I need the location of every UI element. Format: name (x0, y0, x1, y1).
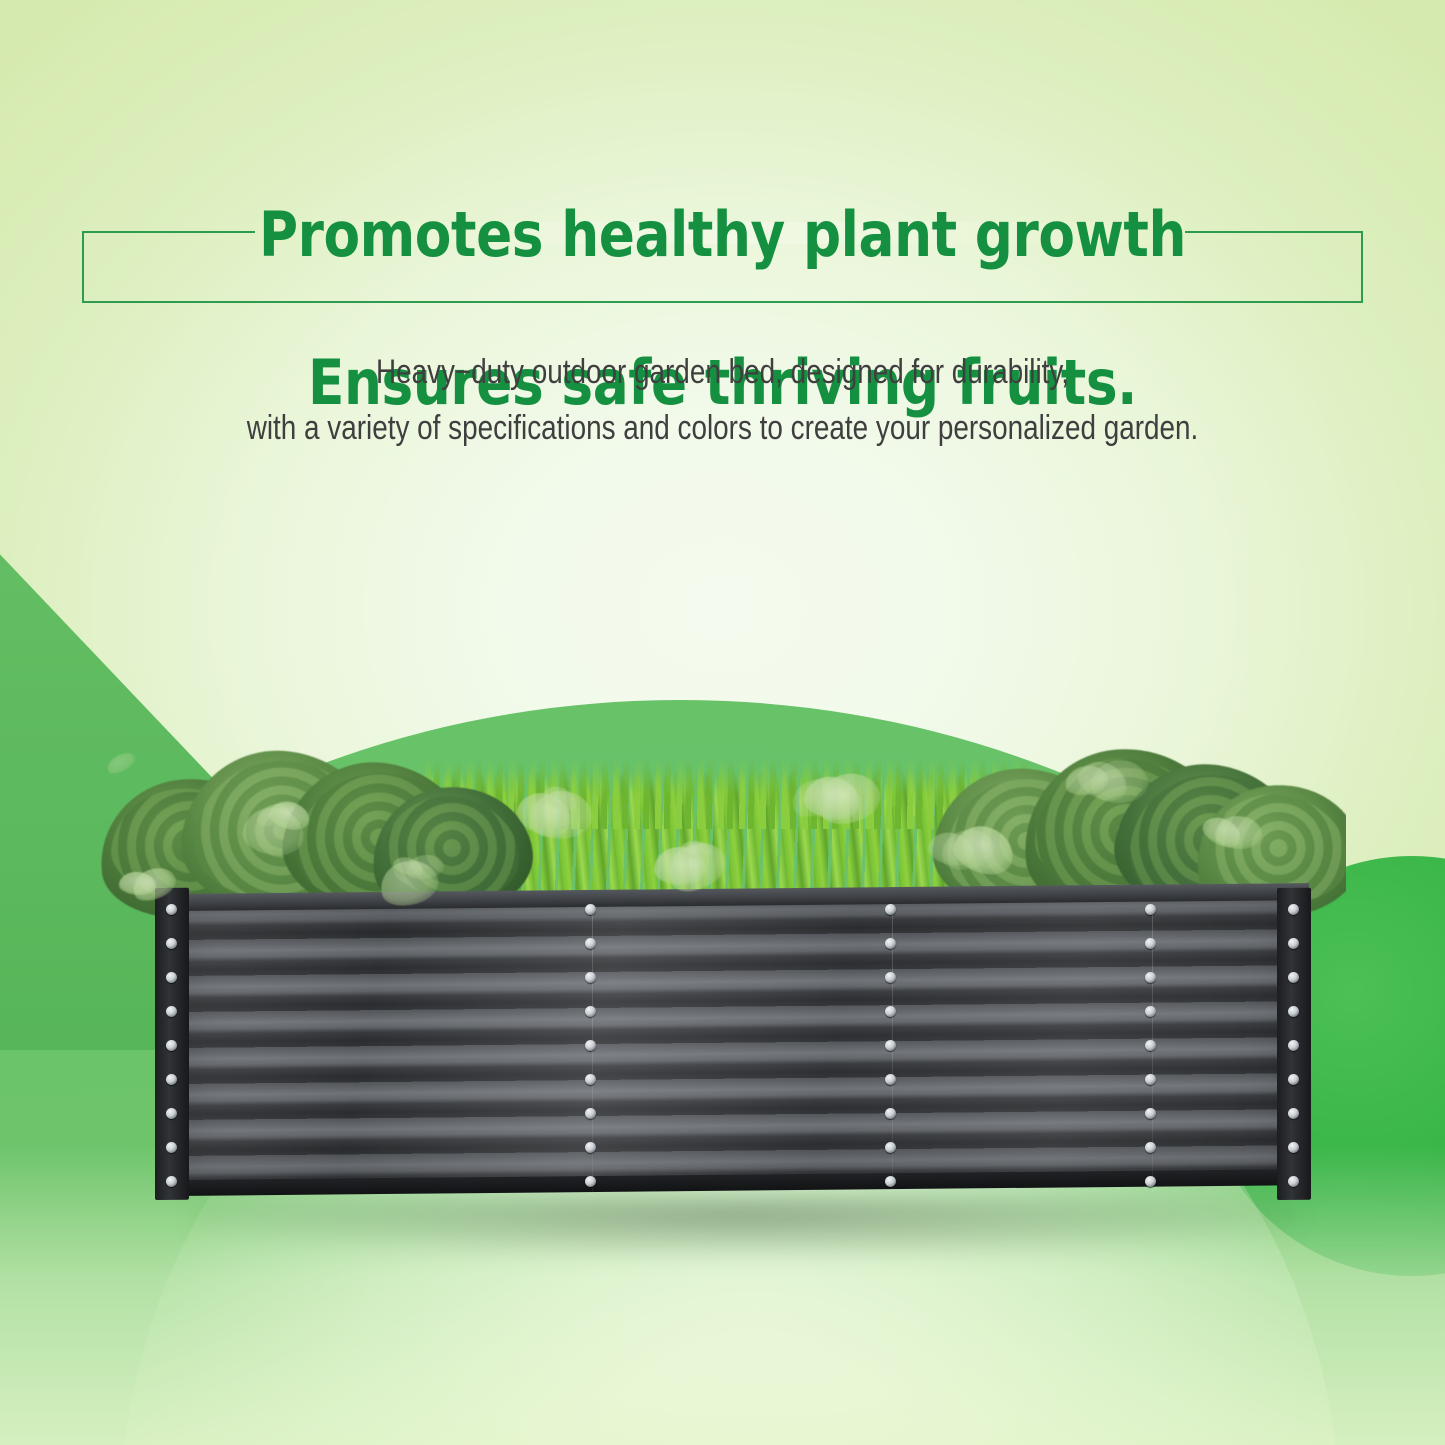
rivet (166, 904, 177, 915)
rivet (1145, 1142, 1156, 1153)
rivet (885, 1040, 896, 1051)
rivet (585, 938, 596, 949)
rivet-column-seam (885, 888, 897, 1200)
rivet (1288, 1040, 1299, 1051)
rivet (885, 1074, 896, 1085)
rivet-column-right (1288, 888, 1300, 1200)
rivet (1145, 1108, 1156, 1119)
headline-line-1: Promotes healthy plant growth (101, 198, 1344, 272)
rivet (1288, 972, 1299, 983)
product-banner: Promotes healthy plant growth Ensures sa… (0, 0, 1445, 1445)
rivet (1288, 1006, 1299, 1017)
rivet (885, 938, 896, 949)
rivet-column-seam (585, 888, 597, 1200)
rivet (1288, 938, 1299, 949)
rivet (1145, 938, 1156, 949)
rivet (585, 1040, 596, 1051)
raised-garden-bed (155, 888, 1320, 1204)
rivet (885, 972, 896, 983)
rivet (166, 1108, 177, 1119)
product-ground-shadow (190, 1196, 1300, 1258)
corrugated-front-panel (177, 893, 1305, 1192)
rivet (166, 938, 177, 949)
rivet (166, 1040, 177, 1051)
rivet (1288, 904, 1299, 915)
rivet (1288, 1176, 1299, 1187)
subtitle-line-2: with a variety of specifications and col… (130, 400, 1315, 456)
leaf-highlight (104, 749, 138, 778)
rivet (585, 1142, 596, 1153)
rivet (885, 904, 896, 915)
rivet (1145, 1176, 1156, 1187)
rivet (166, 1142, 177, 1153)
page-subtitle: Heavy−duty outdoor garden bed, designed … (130, 344, 1315, 456)
header-block: Promotes healthy plant growth Ensures sa… (0, 0, 1445, 470)
rivet (1288, 1074, 1299, 1085)
rivet (1145, 904, 1156, 915)
rivet (1145, 1006, 1156, 1017)
rivet (885, 1142, 896, 1153)
subtitle-line-1: Heavy−duty outdoor garden bed, designed … (130, 344, 1315, 400)
rivet (585, 972, 596, 983)
rivet (1288, 1142, 1299, 1153)
rivet (166, 972, 177, 983)
rivet (585, 1006, 596, 1017)
rivet (166, 1074, 177, 1085)
rivet-column-seam (1145, 888, 1157, 1200)
rivet-column-left (166, 888, 178, 1200)
rivet (585, 1108, 596, 1119)
rivet (585, 1074, 596, 1085)
rivet (885, 1176, 896, 1187)
rivet (1145, 1040, 1156, 1051)
rivet (166, 1176, 177, 1187)
rivet (885, 1006, 896, 1017)
rivet (585, 904, 596, 915)
rivet (885, 1108, 896, 1119)
rivet (1145, 1074, 1156, 1085)
rivet (585, 1176, 596, 1187)
rivet (1145, 972, 1156, 983)
rivet (1288, 1108, 1299, 1119)
rivet (166, 1006, 177, 1017)
